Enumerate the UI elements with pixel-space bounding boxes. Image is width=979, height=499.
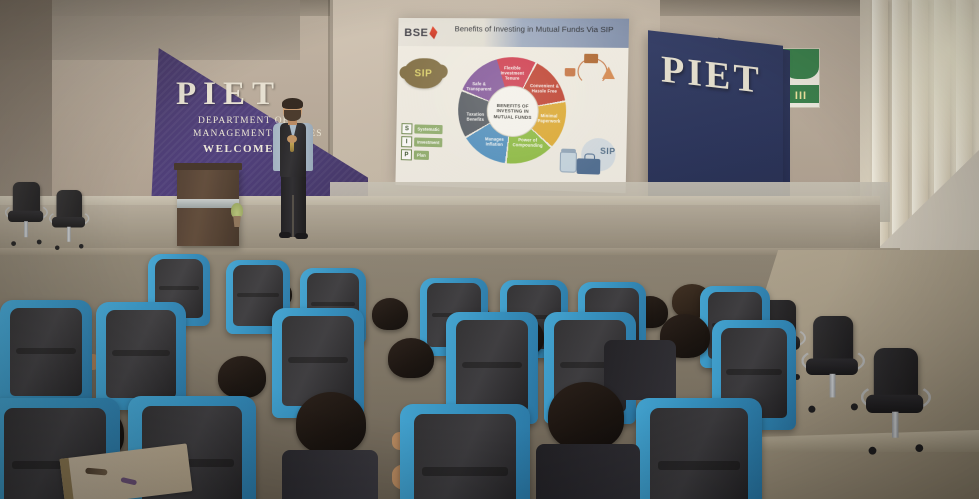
bse-logo: BSE — [404, 23, 451, 42]
chair-caster — [79, 244, 84, 249]
sip-badge: SIP — [403, 58, 444, 89]
audience-torso — [604, 340, 676, 400]
audience-seat — [96, 302, 186, 410]
pen — [120, 477, 137, 485]
chair-seat — [866, 395, 923, 413]
chair-caster — [915, 444, 923, 452]
label-flexible-investment-tenure: Flexible Investment Tenure — [497, 66, 528, 81]
presenter-hand — [287, 135, 297, 143]
chair-caster — [37, 240, 42, 245]
label-convenient-hassle-free: Convenient & Hassle Free — [529, 84, 561, 95]
pen — [85, 468, 107, 476]
acronym-row: I Investment — [401, 136, 462, 149]
presenter-hair — [282, 98, 303, 109]
plant-leaves — [231, 203, 243, 218]
acronym-value: Systematic — [414, 124, 442, 134]
podium-top — [174, 163, 242, 170]
seat-cushion — [282, 316, 354, 406]
audience-head — [372, 298, 408, 330]
acronym-row: P Plan — [401, 149, 462, 162]
presenter-beard — [284, 110, 301, 121]
seat-cushion — [650, 408, 748, 499]
chair-post — [67, 227, 71, 242]
audience-seat — [636, 398, 762, 499]
jar-lid — [561, 149, 576, 154]
banner-left-title: PIET — [176, 76, 281, 113]
leg-gap — [292, 195, 294, 237]
seat-cushion — [10, 308, 82, 397]
seat-cushion — [414, 414, 515, 499]
box-shape — [584, 54, 598, 63]
potted-plant — [231, 203, 243, 227]
slide-title: Benefits of Investing in Mutual Funds Vi… — [455, 25, 625, 34]
sip-illustration-label: SIP — [600, 147, 616, 157]
chair-post — [892, 412, 899, 438]
audience-head — [296, 392, 366, 454]
audience-seat — [0, 300, 92, 408]
audience-head — [388, 338, 434, 378]
label-taxation-benefits: Taxation Benefits — [460, 112, 491, 123]
briefcase-icon — [577, 158, 601, 174]
acronym-value: Investment — [414, 137, 442, 147]
sip-badge-text: SIP — [414, 68, 432, 79]
chair-caster — [11, 241, 16, 246]
chair-post — [24, 221, 28, 237]
label-minimal-paperwork: Minimal Paperwork — [533, 114, 565, 125]
acronym-row: S Systematic — [401, 123, 462, 136]
sip-acronym-legend: S Systematic I Investment P Plan — [401, 123, 462, 164]
audience-seat — [400, 404, 530, 499]
chair-post — [830, 374, 836, 398]
audience-head — [218, 356, 266, 398]
chair-caster — [851, 403, 858, 410]
benefits-donut-chart: BENEFITS OF INVESTING IN MUTUAL FUNDS Fl… — [457, 57, 567, 166]
audience-torso — [282, 450, 378, 499]
audience-torso — [536, 444, 640, 499]
finance-illustration-icon — [562, 52, 623, 86]
bse-logo-text: BSE — [404, 27, 428, 39]
bag-shape — [565, 68, 576, 76]
chair-seat — [806, 358, 858, 375]
coin-jar-icon — [560, 152, 577, 173]
audience-head — [548, 382, 624, 450]
presenter-shoe — [295, 233, 308, 239]
plant-pot — [232, 216, 242, 227]
chair-caster — [55, 246, 60, 251]
sip-savings-illustration: SIP — [557, 137, 618, 180]
presenter — [270, 99, 316, 237]
acronym-key: I — [401, 136, 412, 147]
acronym-value: Plan — [414, 151, 429, 160]
presenter-shoe — [279, 232, 291, 238]
label-manages-inflation: Manages Inflation — [479, 137, 510, 148]
donut-hub-text: BENEFITS OF INVESTING IN MUTUAL FUNDS — [488, 102, 538, 120]
chair-caster — [869, 447, 877, 455]
flame-icon — [429, 26, 437, 39]
acronym-key: S — [401, 123, 412, 134]
podium-band — [177, 199, 239, 208]
label-safe-transparent: Safe & Transparent — [464, 82, 495, 92]
podium — [177, 168, 239, 246]
acronym-key: P — [401, 149, 412, 160]
chair-caster — [808, 406, 815, 413]
label-power-of-compounding: Power of Compounding — [512, 138, 544, 149]
seat-cushion — [456, 320, 528, 412]
auditorium-photo: PIET DEPARTMENT OF MANAGEMENT STUDIES WE… — [0, 0, 979, 499]
projected-slide: BSE Benefits of Investing in Mutual Fund… — [395, 18, 629, 193]
seat-cushion — [106, 310, 176, 399]
